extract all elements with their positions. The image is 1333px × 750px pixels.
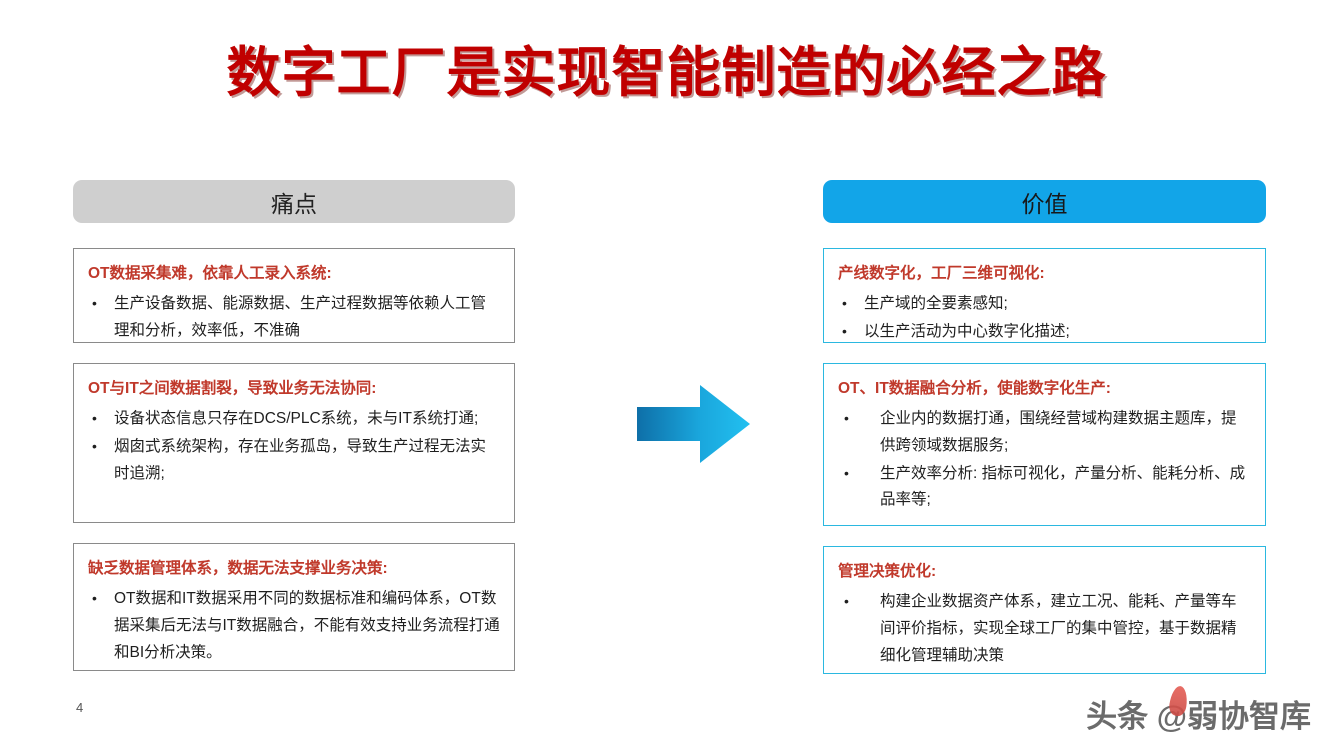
value-card-3-heading: 管理决策优化: — [838, 560, 1251, 583]
pain-card-1-heading: OT数据采集难，依靠人工录入系统: — [88, 262, 500, 285]
value-card-stack: 产线数字化，工厂三维可视化: 生产域的全要素感知; 以生产活动为中心数字化描述;… — [823, 248, 1266, 694]
pain-points-column: 痛点 OT数据采集难，依靠人工录入系统: 生产设备数据、能源数据、生产过程数据等… — [73, 180, 515, 223]
list-item: 构建企业数据资产体系，建立工况、能耗、产量等车间评价指标，实现全球工厂的集中管控… — [838, 589, 1251, 669]
value-header: 价值 — [823, 180, 1266, 223]
pain-card-2: OT与IT之间数据割裂，导致业务无法协同: 设备状态信息只存在DCS/PLC系统… — [73, 363, 515, 523]
watermark-label: 头条 @弱协智库 — [1086, 691, 1311, 736]
list-item: 生产设备数据、能源数据、生产过程数据等依赖人工管理和分析，效率低，不准确 — [88, 291, 500, 344]
pain-card-3-heading: 缺乏数据管理体系，数据无法支撑业务决策: — [88, 557, 500, 580]
list-item: 烟囱式系统架构，存在业务孤岛，导致生产过程无法实时追溯; — [88, 434, 500, 487]
value-header-label: 价值 — [1022, 185, 1068, 219]
pain-card-2-heading: OT与IT之间数据割裂，导致业务无法协同: — [88, 377, 500, 400]
pain-card-3: 缺乏数据管理体系，数据无法支撑业务决策: OT数据和IT数据采用不同的数据标准和… — [73, 543, 515, 671]
pain-points-header-label: 痛点 — [271, 185, 317, 219]
list-item: 设备状态信息只存在DCS/PLC系统，未与IT系统打通; — [88, 406, 500, 433]
value-card-3-bullets: 构建企业数据资产体系，建立工况、能耗、产量等车间评价指标，实现全球工厂的集中管控… — [838, 589, 1251, 669]
page-number: 4 — [76, 700, 83, 715]
value-card-1-bullets: 生产域的全要素感知; 以生产活动为中心数字化描述; — [838, 291, 1251, 345]
list-item: 以生产活动为中心数字化描述; — [838, 319, 1251, 346]
list-item: 生产效率分析: 指标可视化，产量分析、能耗分析、成品率等; — [838, 461, 1251, 514]
watermark: 头条 @弱协智库 — [1086, 690, 1311, 736]
value-card-2: OT、IT数据融合分析，使能数字化生产: 企业内的数据打通，围绕经营域构建数据主… — [823, 363, 1266, 526]
pain-card-3-bullets: OT数据和IT数据采用不同的数据标准和编码体系，OT数据采集后无法与IT数据融合… — [88, 586, 500, 666]
page-title: 数字工厂是实现智能制造的必经之路 — [0, 28, 1333, 107]
value-card-2-heading: OT、IT数据融合分析，使能数字化生产: — [838, 377, 1251, 400]
pain-card-1: OT数据采集难，依靠人工录入系统: 生产设备数据、能源数据、生产过程数据等依赖人… — [73, 248, 515, 343]
value-card-2-bullets: 企业内的数据打通，围绕经营域构建数据主题库，提供跨领域数据服务; 生产效率分析:… — [838, 406, 1251, 514]
pain-points-header: 痛点 — [73, 180, 515, 223]
value-card-1: 产线数字化，工厂三维可视化: 生产域的全要素感知; 以生产活动为中心数字化描述; — [823, 248, 1266, 343]
value-card-1-heading: 产线数字化，工厂三维可视化: — [838, 262, 1251, 285]
pain-card-2-bullets: 设备状态信息只存在DCS/PLC系统，未与IT系统打通; 烟囱式系统架构，存在业… — [88, 406, 500, 487]
list-item: 企业内的数据打通，围绕经营域构建数据主题库，提供跨领域数据服务; — [838, 406, 1251, 459]
value-column: 价值 产线数字化，工厂三维可视化: 生产域的全要素感知; 以生产活动为中心数字化… — [823, 180, 1266, 223]
value-card-3: 管理决策优化: 构建企业数据资产体系，建立工况、能耗、产量等车间评价指标，实现全… — [823, 546, 1266, 674]
right-arrow-icon — [637, 385, 750, 463]
pain-card-1-bullets: 生产设备数据、能源数据、生产过程数据等依赖人工管理和分析，效率低，不准确 — [88, 291, 500, 344]
pain-points-card-stack: OT数据采集难，依靠人工录入系统: 生产设备数据、能源数据、生产过程数据等依赖人… — [73, 248, 515, 691]
list-item: OT数据和IT数据采用不同的数据标准和编码体系，OT数据采集后无法与IT数据融合… — [88, 586, 500, 666]
list-item: 生产域的全要素感知; — [838, 291, 1251, 318]
